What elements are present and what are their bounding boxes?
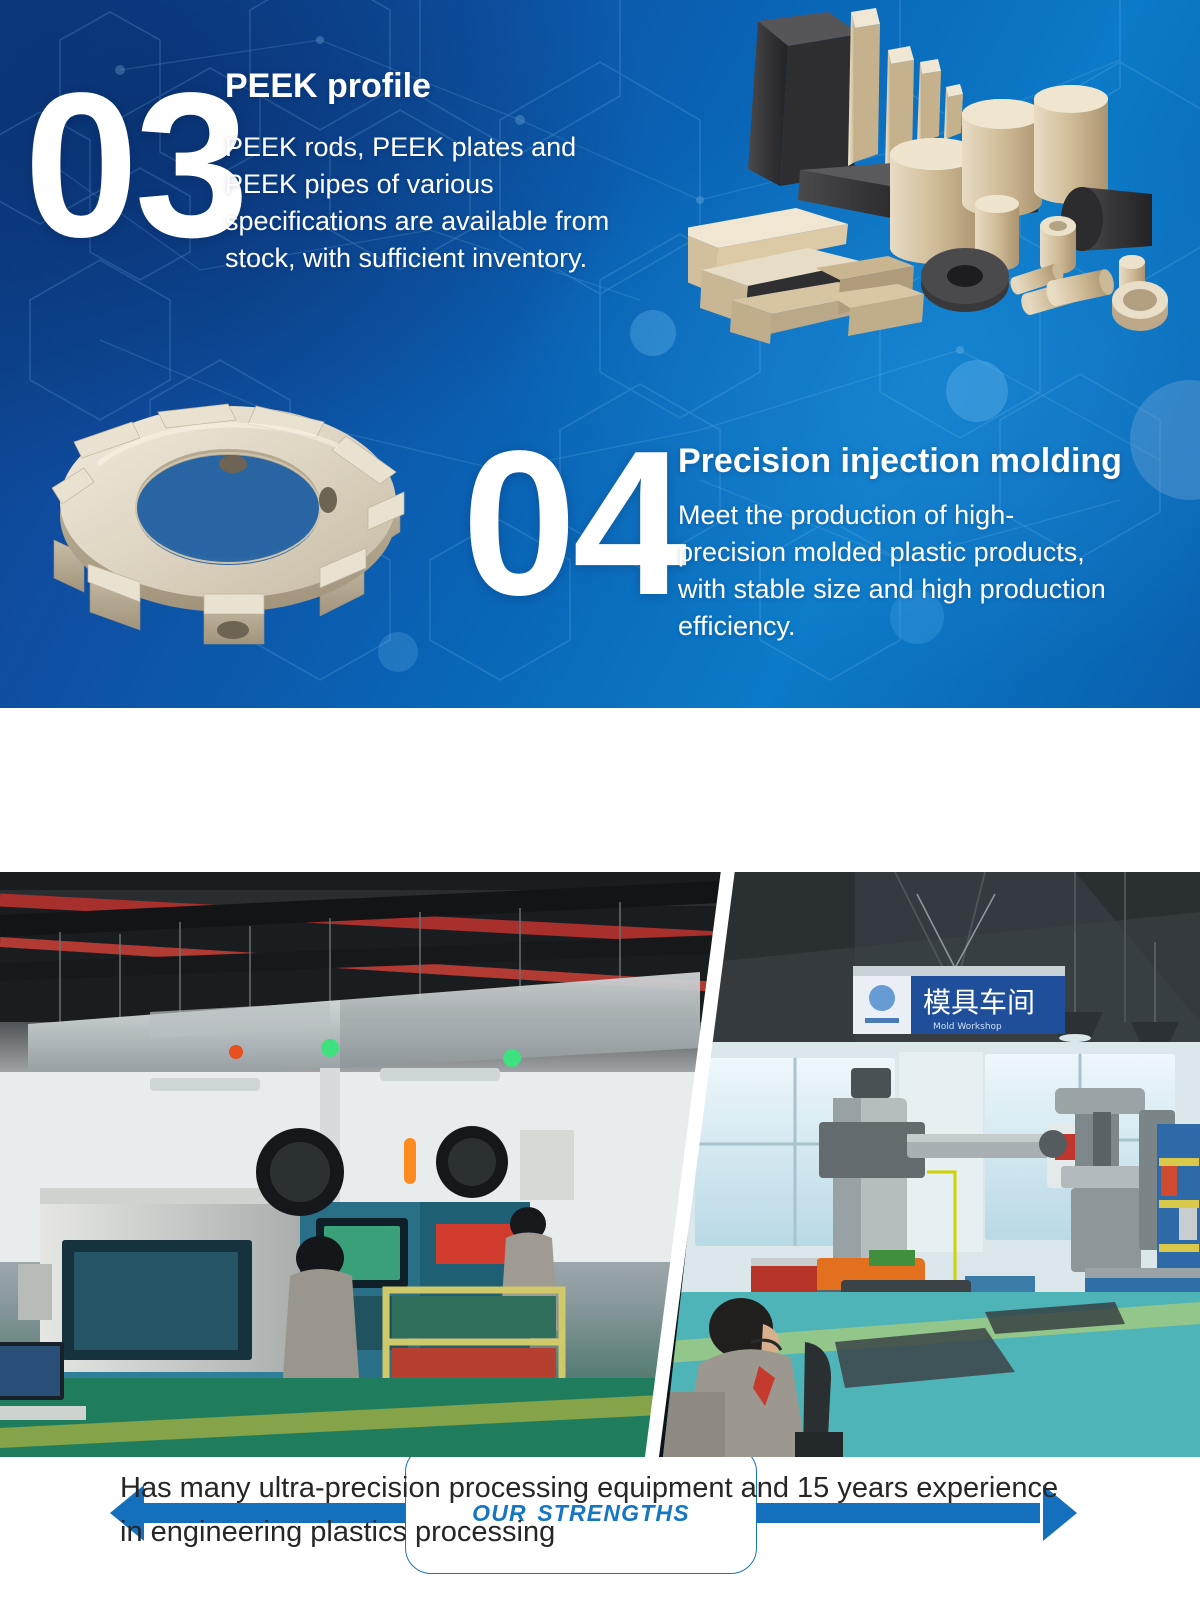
mold-workshop-photo: 模具车间 Mold Workshop	[655, 872, 1200, 1457]
cnc-machining-workshop-photo	[0, 872, 720, 1457]
block-title-03: PEEK profile	[225, 66, 431, 106]
workshop-photo-strip: 模具车间 Mold Workshop	[0, 872, 1200, 1457]
page-root: 03 PEEK profile PEEK rods, PEEK plates a…	[0, 0, 1200, 1612]
footer-caption: Has many ultra-precision processing equi…	[0, 1466, 1200, 1554]
strengths-banner: Our strengths	[0, 708, 1200, 872]
tan-plates-stack	[688, 208, 924, 344]
black-ring	[921, 248, 1009, 312]
peek-gear-ring-photo	[28, 368, 428, 658]
hero-panel: 03 PEEK profile PEEK rods, PEEK plates a…	[0, 0, 1200, 708]
peek-profile-products-photo	[688, 0, 1200, 346]
block-body-04: Meet the production of high-precision mo…	[678, 497, 1118, 645]
svg-text:模具车间: 模具车间	[923, 986, 1035, 1019]
black-block-large	[748, 12, 860, 186]
glow-circle-1	[946, 360, 1008, 422]
block-body-03: PEEK rods, PEEK plates and PEEK pipes of…	[225, 129, 655, 277]
block-number-03: 03	[24, 62, 245, 268]
block-title-04: Precision injection molding	[678, 441, 1122, 481]
block-number-04: 04	[462, 420, 683, 626]
glow-circle-3	[630, 310, 676, 356]
svg-text:Mold Workshop: Mold Workshop	[933, 1022, 1002, 1032]
